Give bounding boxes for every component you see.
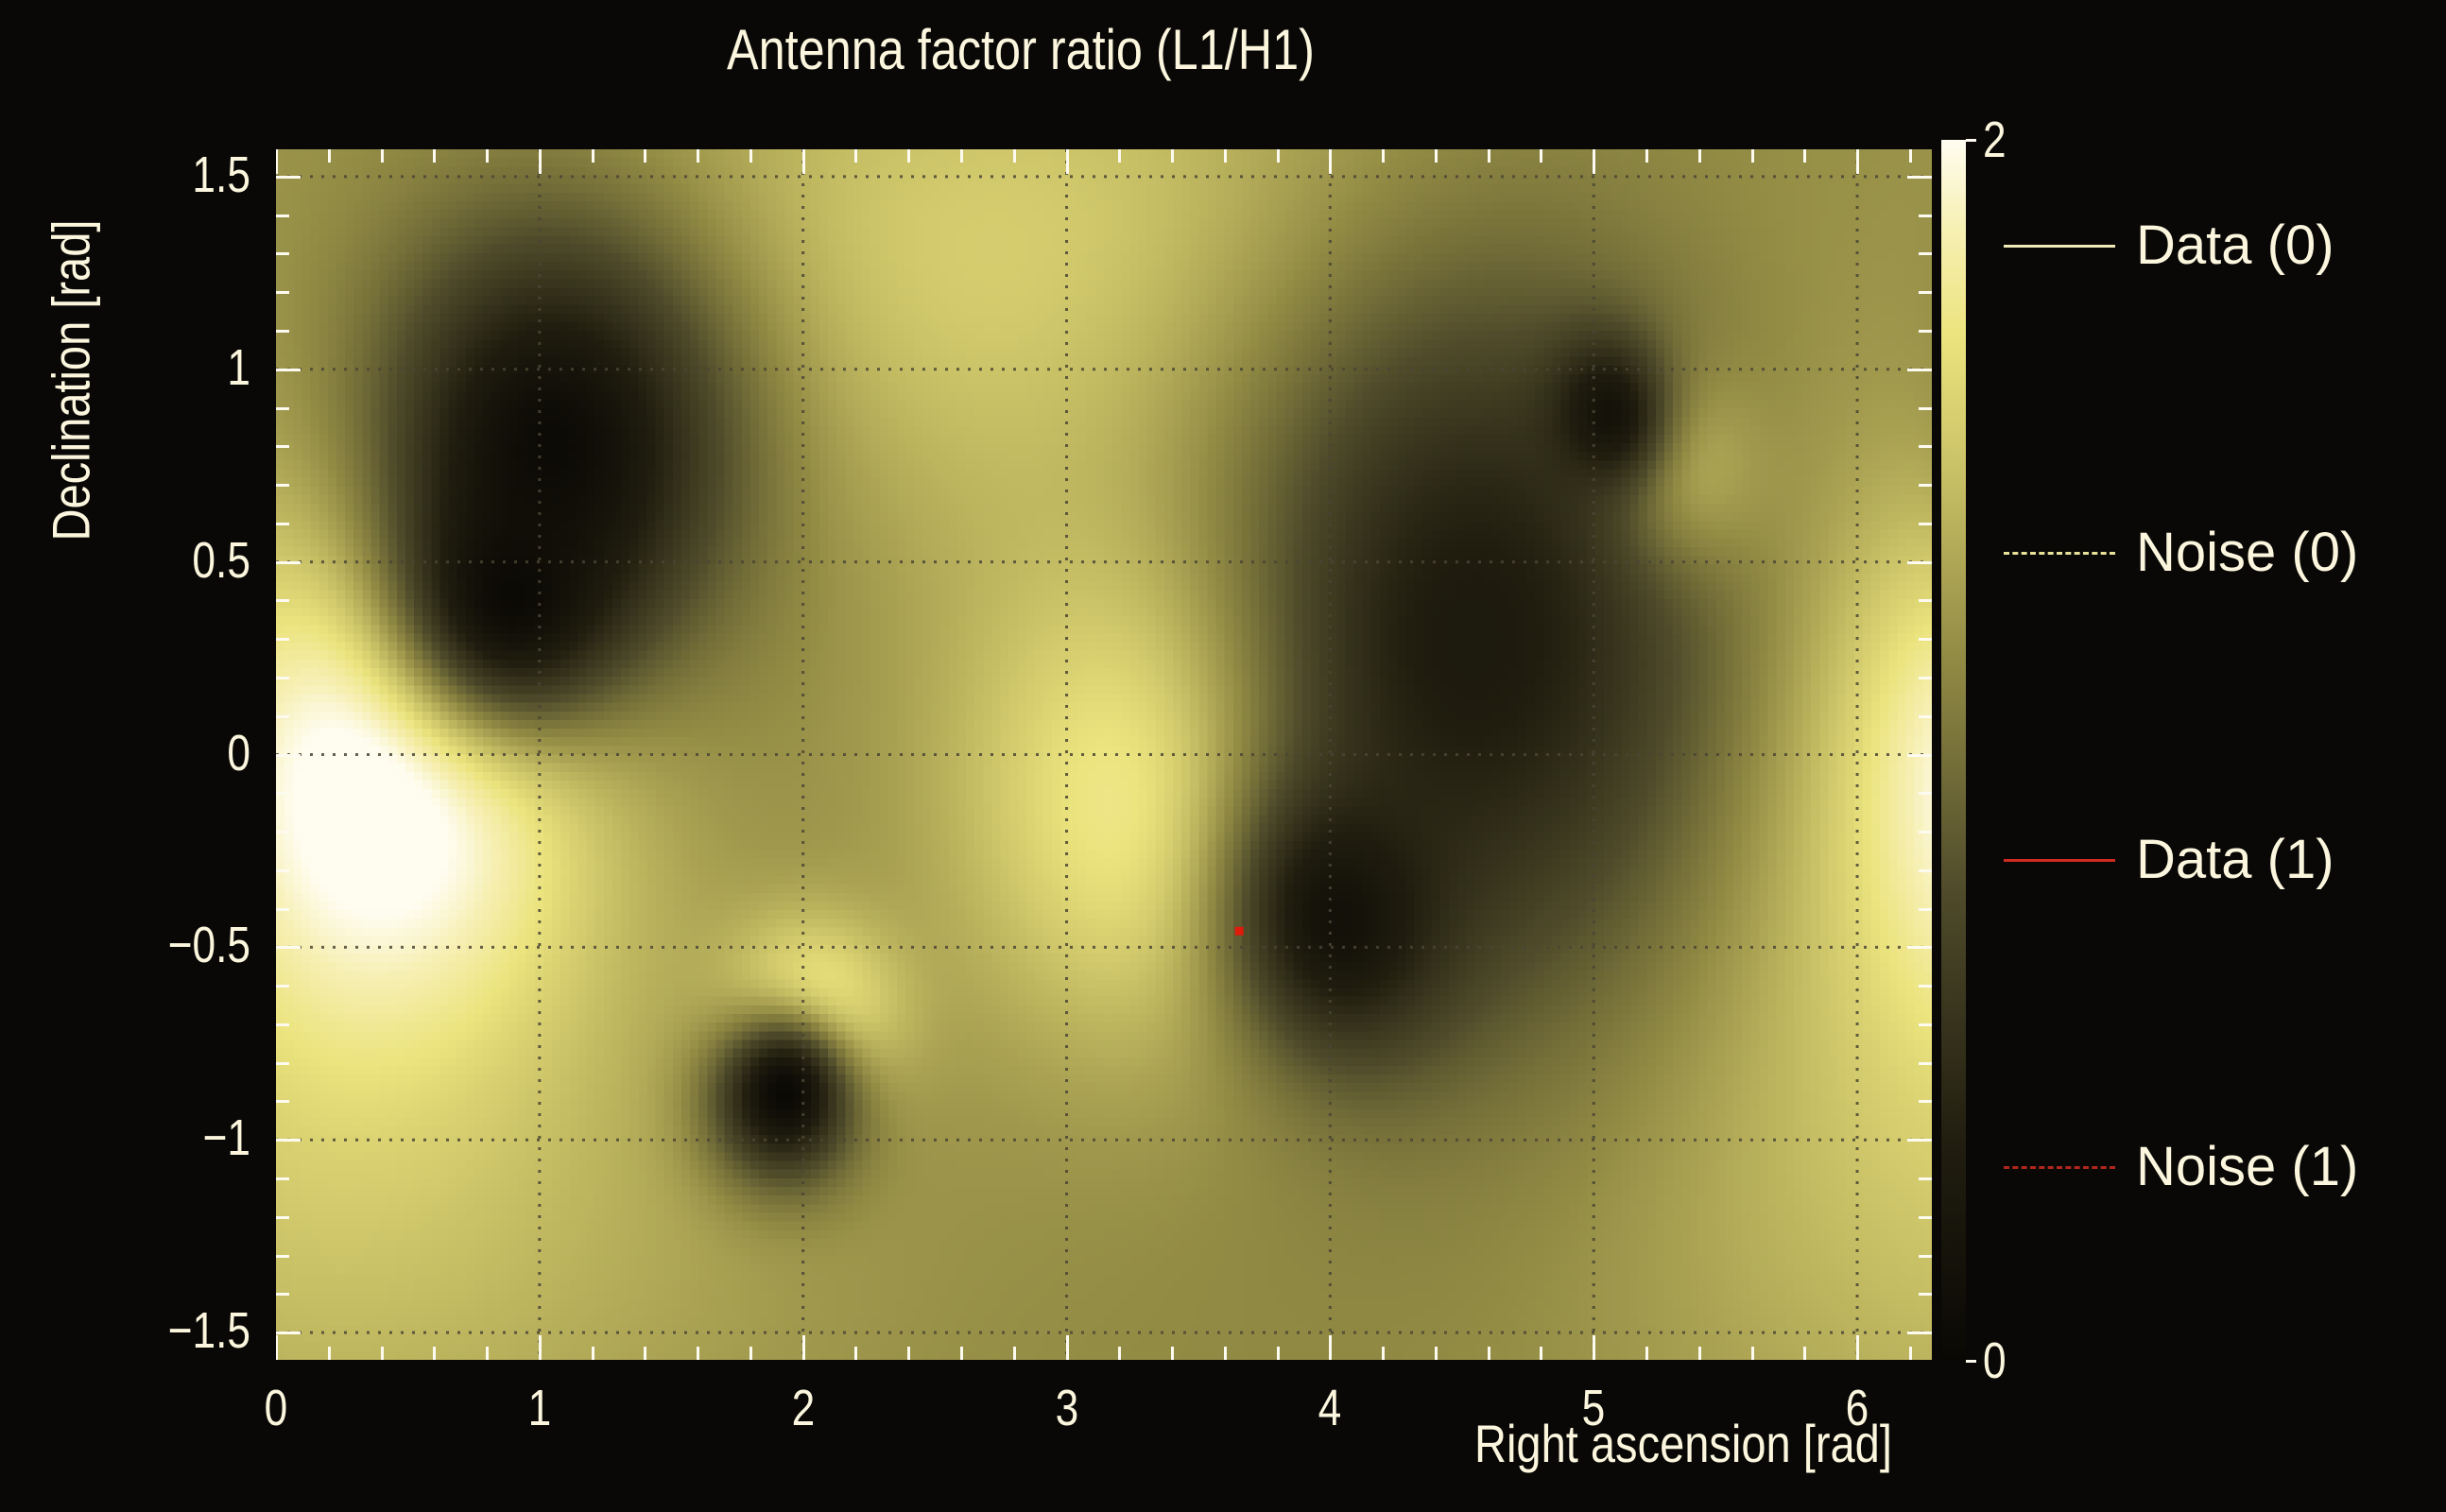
colorbar-tick-label: 2 <box>1983 111 2007 169</box>
legend-entry-data-1[interactable]: Data (1) <box>2004 832 2334 888</box>
axis-tick <box>276 215 289 217</box>
axis-tick <box>276 792 289 795</box>
axis-tick <box>1488 1347 1490 1360</box>
axis-tick <box>1435 1347 1438 1360</box>
axis-tick <box>1919 1255 1932 1258</box>
legend-entry-data-0[interactable]: Data (0) <box>2004 217 2334 274</box>
axis-tick <box>276 946 301 949</box>
axis-tick <box>697 149 699 163</box>
axis-tick <box>1919 523 1932 525</box>
colorbar[interactable]: 02 <box>1941 140 1966 1361</box>
axis-tick <box>1919 869 1932 872</box>
axis-tick <box>381 1347 384 1360</box>
axis-tick <box>1907 754 1932 757</box>
x-tick-label: 3 <box>997 1379 1137 1437</box>
axis-tick <box>276 638 289 641</box>
x-tick-label: 0 <box>206 1379 346 1437</box>
antenna-ratio-heatmap <box>276 149 1932 1360</box>
axis-tick <box>276 1293 289 1296</box>
legend-line-swatch <box>2004 245 2115 248</box>
axis-tick <box>328 149 331 163</box>
axis-tick <box>1919 1023 1932 1026</box>
axis-tick <box>1907 561 1932 564</box>
axis-tick <box>592 1347 594 1360</box>
axis-tick <box>1907 1332 1932 1334</box>
axis-tick <box>1919 1100 1932 1103</box>
colorbar-tick <box>1966 1360 1976 1363</box>
legend-label: Data (0) <box>2136 218 2334 273</box>
axis-tick <box>802 149 805 174</box>
axis-tick <box>960 1347 963 1360</box>
axis-tick <box>644 1347 646 1360</box>
axis-tick <box>1907 369 1932 371</box>
axis-tick <box>276 1062 289 1065</box>
axis-tick <box>1919 599 1932 602</box>
page-title: Antenna factor ratio (L1/H1) <box>164 17 1878 82</box>
legend-label: Data (1) <box>2136 833 2334 887</box>
axis-tick <box>1698 1347 1701 1360</box>
axis-tick <box>1919 1216 1932 1219</box>
axis-tick <box>276 445 289 448</box>
axis-tick <box>854 1347 857 1360</box>
x-tick-label: 1 <box>470 1379 610 1437</box>
axis-tick <box>328 1347 331 1360</box>
axis-tick <box>1907 176 1932 179</box>
axis-tick <box>1919 1062 1932 1065</box>
axis-tick <box>276 908 289 911</box>
y-tick-label: −1 <box>92 1108 250 1167</box>
axis-tick <box>1224 149 1227 163</box>
axis-tick <box>697 1347 699 1360</box>
axis-tick <box>1540 1347 1542 1360</box>
y-axis-title: Declination [rad] <box>41 158 102 602</box>
y-tick-label: 1 <box>92 338 250 397</box>
axis-tick <box>276 754 301 757</box>
legend-line-swatch <box>2004 1166 2115 1169</box>
axis-tick <box>276 985 289 988</box>
axis-tick <box>1593 149 1595 174</box>
axis-tick <box>276 1255 289 1258</box>
axis-tick <box>1171 149 1174 163</box>
y-tick-label: −0.5 <box>92 916 250 974</box>
axis-tick <box>276 869 289 872</box>
axis-tick <box>854 149 857 163</box>
axis-tick <box>1919 330 1932 333</box>
axis-tick <box>276 561 301 564</box>
axis-tick <box>276 369 301 371</box>
axis-tick <box>1751 149 1754 163</box>
axis-tick <box>1919 484 1932 487</box>
axis-tick <box>1919 1293 1932 1296</box>
axis-tick <box>1919 677 1932 679</box>
axis-tick <box>1171 1347 1174 1360</box>
colorbar-tick-label: 0 <box>1983 1332 2007 1390</box>
legend-entry-noise-0[interactable]: Noise (0) <box>2004 524 2358 581</box>
axis-tick <box>1329 1335 1332 1360</box>
axis-tick <box>1751 1347 1754 1360</box>
legend-label: Noise (1) <box>2136 1140 2358 1194</box>
axis-tick <box>381 149 384 163</box>
axis-tick <box>960 149 963 163</box>
axis-tick <box>433 149 436 163</box>
colorbar-gradient <box>1941 140 1966 1361</box>
axis-tick <box>1803 1347 1806 1360</box>
axis-tick <box>486 1347 489 1360</box>
axis-tick <box>276 1216 289 1219</box>
axis-tick <box>433 1347 436 1360</box>
axis-tick <box>486 149 489 163</box>
axis-tick <box>592 149 594 163</box>
axis-tick <box>802 1335 805 1360</box>
axis-tick <box>1907 1139 1932 1142</box>
axis-tick <box>539 149 542 174</box>
axis-tick <box>1909 1347 1912 1360</box>
axis-tick <box>276 149 278 174</box>
y-tick-label: −1.5 <box>92 1301 250 1360</box>
y-tick-label: 0.5 <box>92 531 250 590</box>
axis-tick <box>1907 946 1932 949</box>
axis-tick <box>276 407 289 410</box>
axis-tick <box>1803 149 1806 163</box>
axis-tick <box>276 677 289 679</box>
axis-tick <box>1066 149 1069 174</box>
axis-tick <box>276 523 289 525</box>
axis-tick <box>1645 149 1648 163</box>
axis-tick <box>1856 1335 1859 1360</box>
axis-tick <box>276 1335 278 1360</box>
axis-tick <box>749 1347 752 1360</box>
legend-entry-noise-1[interactable]: Noise (1) <box>2004 1139 2358 1195</box>
axis-tick <box>1066 1335 1069 1360</box>
axis-tick <box>276 1100 289 1103</box>
axis-tick <box>1919 985 1932 988</box>
axis-tick <box>1488 149 1490 163</box>
axis-tick <box>276 484 289 487</box>
axis-tick <box>276 1139 301 1142</box>
axis-tick <box>1593 1335 1595 1360</box>
axis-tick <box>907 1347 910 1360</box>
axis-tick <box>1919 215 1932 217</box>
axis-tick <box>1919 831 1932 833</box>
axis-tick <box>1013 1347 1016 1360</box>
axis-tick <box>1382 149 1385 163</box>
axis-tick <box>276 1177 289 1180</box>
axis-tick <box>1277 1347 1280 1360</box>
axis-tick <box>1909 149 1912 163</box>
axis-tick <box>1329 149 1332 174</box>
legend-label: Noise (0) <box>2136 525 2358 580</box>
axis-tick <box>276 176 301 179</box>
axis-tick <box>1277 149 1280 163</box>
axis-tick <box>644 149 646 163</box>
legend-line-swatch <box>2004 552 2115 555</box>
x-tick-label: 2 <box>733 1379 873 1437</box>
axis-tick <box>1382 1347 1385 1360</box>
axis-tick <box>276 599 289 602</box>
axis-tick <box>1919 1177 1932 1180</box>
axis-tick <box>1919 445 1932 448</box>
axis-tick <box>1919 407 1932 410</box>
axis-tick <box>276 1023 289 1026</box>
axis-tick <box>1856 149 1859 174</box>
legend-line-swatch <box>2004 859 2115 862</box>
legend[interactable]: Data (0)Noise (0)Data (1)Noise (1) <box>2004 189 2429 1361</box>
colorbar-tick <box>1966 139 1976 142</box>
axis-tick <box>1435 149 1438 163</box>
axis-tick <box>1118 1347 1121 1360</box>
axis-tick <box>907 149 910 163</box>
axis-tick <box>1919 715 1932 718</box>
axis-tick <box>276 715 289 718</box>
axis-tick <box>1013 149 1016 163</box>
axis-tick <box>1645 1347 1648 1360</box>
y-tick-label: 1.5 <box>92 146 250 204</box>
axis-tick <box>1919 792 1932 795</box>
figure-root: Antenna factor ratio (L1/H1) −1.5−1−0.50… <box>0 0 2446 1512</box>
x-tick-label: 4 <box>1261 1379 1401 1437</box>
axis-tick <box>1224 1347 1227 1360</box>
axis-tick <box>276 831 289 833</box>
y-tick-label: 0 <box>92 724 250 782</box>
axis-tick <box>276 252 289 255</box>
axis-tick <box>1118 149 1121 163</box>
axis-tick <box>1919 638 1932 641</box>
axis-tick <box>1540 149 1542 163</box>
axis-tick <box>276 1332 301 1334</box>
axis-tick <box>539 1335 542 1360</box>
axis-tick <box>1919 291 1932 294</box>
axis-tick <box>276 291 289 294</box>
axis-tick <box>1919 908 1932 911</box>
axis-tick <box>276 330 289 333</box>
axis-tick <box>749 149 752 163</box>
heatmap-plot-area[interactable] <box>276 149 1932 1360</box>
axis-tick <box>1698 149 1701 163</box>
axis-tick <box>1919 252 1932 255</box>
x-axis-title: Right ascension [rad] <box>1474 1413 1892 1474</box>
